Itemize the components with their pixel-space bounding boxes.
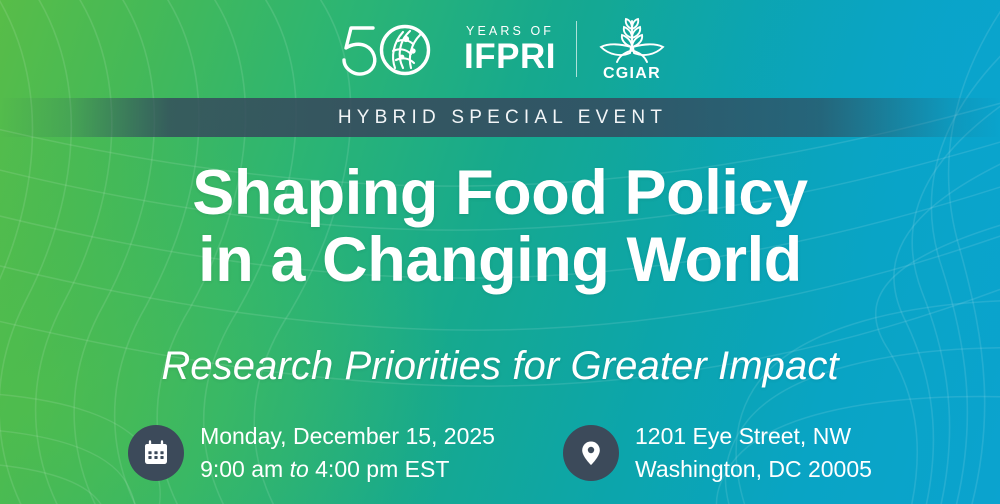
logo-row: YEARS OF IFPRI — [0, 13, 1000, 85]
cgiar-logo[interactable]: CGIAR — [597, 17, 667, 82]
calendar-icon — [142, 439, 170, 467]
page-subtitle: Research Priorities for Greater Impact — [0, 344, 1000, 389]
ifpri-tagline: YEARS OF — [466, 25, 556, 38]
event-date-item: Monday, December 15, 2025 9:00 am to 4:0… — [128, 420, 495, 485]
ifpri-logo[interactable]: YEARS OF IFPRI — [333, 21, 556, 77]
event-banner: YEARS OF IFPRI — [0, 0, 1000, 504]
calendar-badge — [128, 425, 184, 481]
ifpri-name: IFPRI — [464, 41, 556, 73]
page-title: Shaping Food Policy in a Changing World — [0, 160, 1000, 295]
ifpri-wordmark: YEARS OF IFPRI — [464, 25, 556, 73]
event-location-line-1: 1201 Eye Street, NW — [635, 423, 851, 449]
cgiar-wheat-icon — [597, 17, 667, 63]
event-type-label: HYBRID SPECIAL EVENT — [333, 107, 667, 129]
event-date-text: Monday, December 15, 2025 9:00 am to 4:0… — [200, 420, 495, 485]
page-title-line-2: in a Changing World — [0, 227, 1000, 294]
cgiar-name: CGIAR — [603, 66, 661, 82]
event-details-row: Monday, December 15, 2025 9:00 am to 4:0… — [0, 420, 1000, 485]
event-location-item: 1201 Eye Street, NW Washington, DC 20005 — [563, 420, 872, 485]
page-title-line-1: Shaping Food Policy — [0, 160, 1000, 227]
map-pin-icon — [577, 439, 605, 467]
event-location-line-2: Washington, DC 20005 — [635, 453, 872, 486]
event-time-line: 9:00 am to 4:00 pm EST — [200, 453, 495, 486]
event-type-strip: HYBRID SPECIAL EVENT — [0, 98, 1000, 137]
ifpri-50-leaf-icon — [333, 21, 455, 77]
event-time-end: 4:00 pm EST — [315, 456, 449, 482]
location-badge — [563, 425, 619, 481]
event-date-line-1: Monday, December 15, 2025 — [200, 423, 495, 449]
logo-divider — [576, 21, 577, 77]
event-location-text: 1201 Eye Street, NW Washington, DC 20005 — [635, 420, 872, 485]
event-time-start: 9:00 am — [200, 456, 283, 482]
event-time-joiner: to — [290, 456, 309, 482]
